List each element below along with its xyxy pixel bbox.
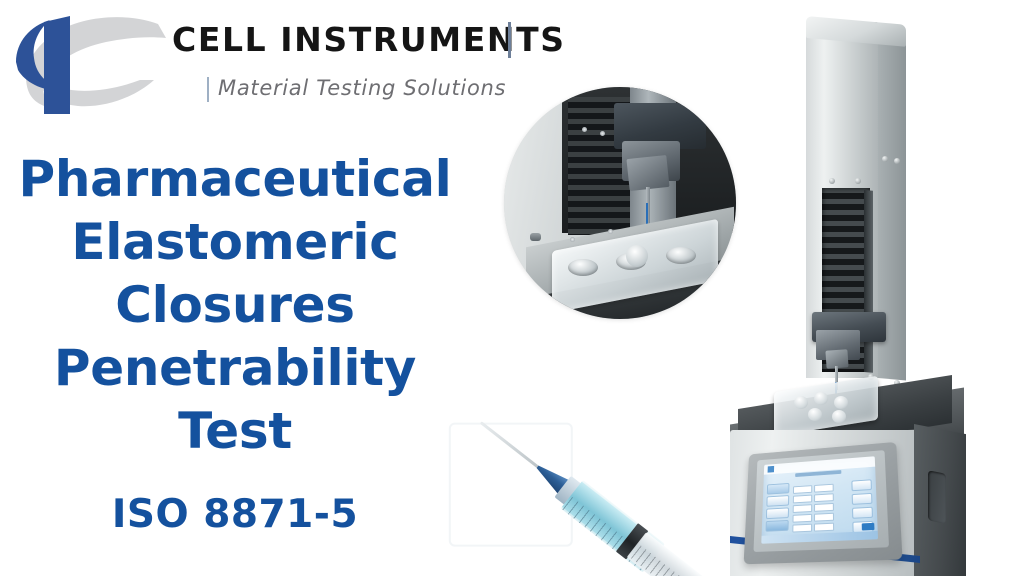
hmi-field[interactable] — [793, 495, 812, 504]
machine-screw-icon — [829, 178, 835, 184]
machine-screw-icon — [882, 156, 888, 162]
tagline-divider — [207, 77, 209, 102]
inset-closure-hole — [568, 259, 598, 276]
inset-screw-icon — [608, 229, 613, 234]
penetrability-tester-image — [716, 0, 1024, 576]
brand-name-divider — [508, 22, 511, 58]
machine-closure-sample — [794, 396, 808, 409]
page-title-line-5: Test — [0, 400, 470, 463]
machine-closure-sample — [814, 392, 828, 405]
hmi-field[interactable] — [814, 484, 834, 493]
inset-screw-icon — [570, 237, 575, 242]
brand-logo-block: CELL INSTRUMENTS Material Testing Soluti… — [0, 4, 530, 114]
hmi-field[interactable] — [793, 485, 812, 494]
inset-closure-sample — [626, 245, 648, 267]
machine-screw-icon — [894, 158, 900, 164]
inset-screw-icon — [582, 127, 587, 132]
hmi-field[interactable] — [793, 514, 813, 523]
hmi-logo-icon — [768, 466, 775, 473]
inset-closure-hole — [666, 247, 696, 264]
syringe-image — [452, 382, 724, 576]
slide-canvas: CELL INSTRUMENTS Material Testing Soluti… — [0, 0, 1024, 576]
page-title-line-4: Penetrability — [0, 337, 470, 400]
brand-tagline: Material Testing Solutions — [218, 76, 506, 100]
brand-name: CELL INSTRUMENTS — [172, 20, 566, 59]
hmi-field[interactable] — [792, 524, 812, 533]
hmi-field[interactable] — [793, 504, 812, 513]
page-title: Pharmaceutical Elastomeric Closures Pene… — [0, 148, 470, 463]
machine-closure-sample — [834, 396, 848, 409]
hmi-field[interactable] — [814, 493, 834, 502]
hmi-menu-item[interactable] — [767, 483, 790, 495]
hmi-menu-item[interactable] — [766, 495, 789, 507]
machine-touchscreen[interactable] — [761, 456, 878, 543]
machine-bellows-inner — [864, 190, 873, 373]
page-title-line-3: Closures — [0, 274, 470, 337]
hmi-action-button[interactable] — [852, 493, 873, 505]
inset-screw-icon — [600, 131, 605, 136]
hmi-action-button[interactable] — [852, 507, 873, 519]
hmi-field[interactable] — [814, 503, 834, 512]
closeup-inset-image — [504, 87, 736, 319]
machine-closure-sample — [808, 408, 822, 421]
hmi-field[interactable] — [814, 523, 834, 532]
inset-adjust-knob — [530, 233, 541, 241]
hmi-status-badge — [862, 523, 875, 531]
inset-probe-clamp — [626, 155, 669, 191]
hmi-menu-item[interactable] — [765, 520, 788, 532]
hmi-action-button[interactable] — [851, 479, 872, 491]
page-title-line-2: Elastomeric — [0, 211, 470, 274]
page-title-line-1: Pharmaceutical — [0, 148, 470, 211]
cell-instruments-c-mark-icon — [8, 10, 176, 114]
machine-closure-sample — [832, 410, 846, 423]
machine-screw-icon — [855, 178, 861, 184]
hmi-menu-item[interactable] — [766, 507, 789, 519]
hmi-field[interactable] — [814, 513, 834, 522]
machine-side-handle — [928, 470, 946, 523]
